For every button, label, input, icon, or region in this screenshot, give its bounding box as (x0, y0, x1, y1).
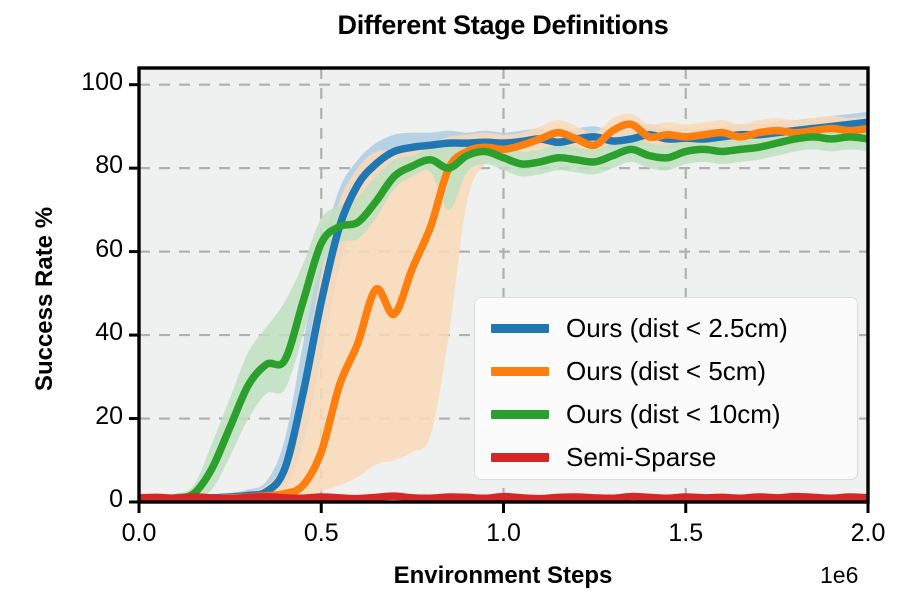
legend-color-swatch (491, 410, 549, 419)
series-line-3 (139, 496, 868, 499)
legend-color-swatch (491, 324, 549, 333)
legend-color-swatch (491, 367, 549, 376)
legend-item-3[interactable]: Semi-Sparse (491, 435, 716, 479)
legend-item-0[interactable]: Ours (dist < 2.5cm) (491, 306, 788, 350)
legend-item-1[interactable]: Ours (dist < 5cm) (491, 349, 766, 393)
legend-item-2[interactable]: Ours (dist < 10cm) (491, 392, 781, 436)
legend-label: Ours (dist < 2.5cm) (566, 315, 788, 341)
legend-label: Semi-Sparse (566, 444, 716, 470)
legend-label: Ours (dist < 10cm) (566, 401, 781, 427)
chart-figure: Different Stage Definitions Success Rate… (0, 0, 913, 616)
legend-color-swatch (491, 453, 549, 462)
legend-label: Ours (dist < 5cm) (566, 358, 766, 384)
chart-legend: Ours (dist < 2.5cm)Ours (dist < 5cm)Ours… (474, 297, 858, 480)
